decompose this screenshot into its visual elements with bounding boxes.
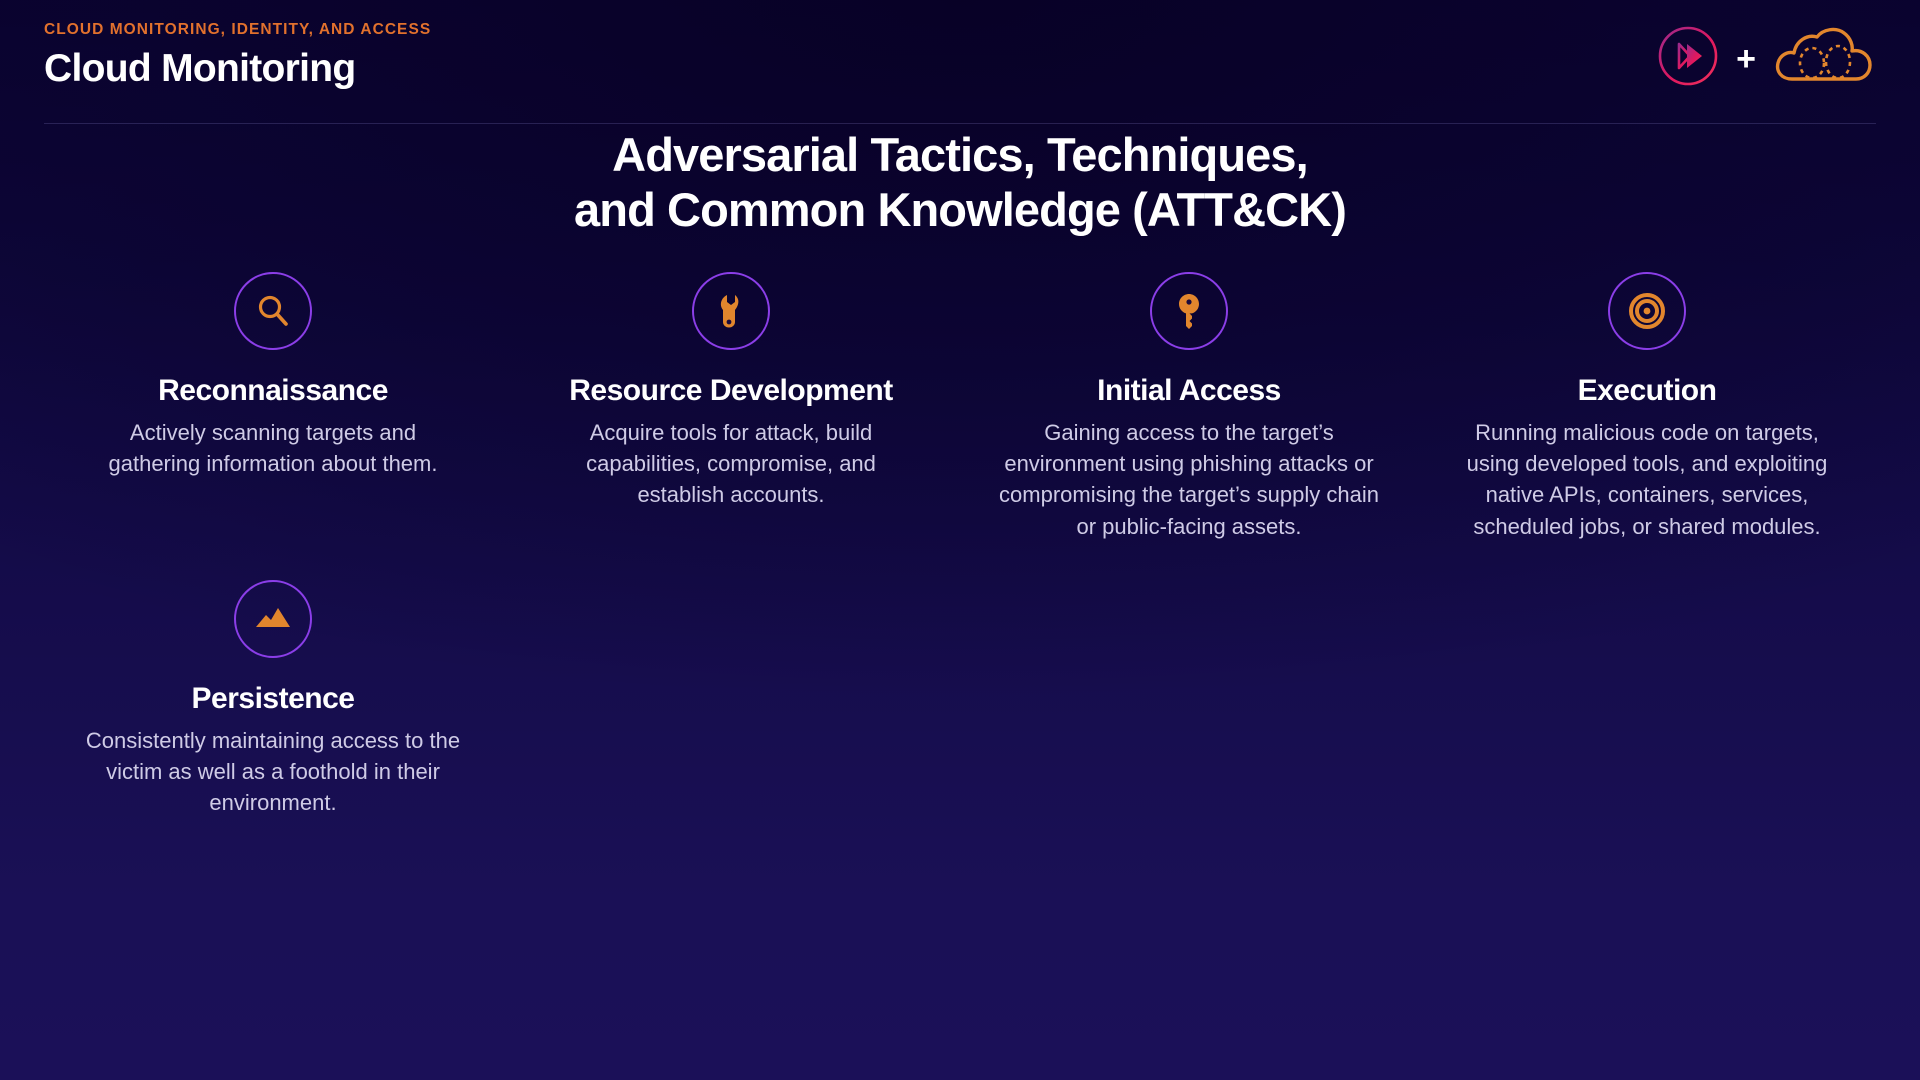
tactics-grid: Reconnaissance Actively scanning targets… (44, 272, 1876, 819)
tactic-title: Reconnaissance (158, 374, 388, 407)
page-header: CLOUD MONITORING, IDENTITY, AND ACCESS C… (0, 0, 1920, 124)
tactic-card-initial-access: Initial Access Gaining access to the tar… (960, 272, 1418, 542)
magnifier-icon (234, 272, 312, 350)
tactic-card-execution: Execution Running malicious code on targ… (1418, 272, 1876, 542)
tactic-description: Running malicious code on targets, using… (1457, 417, 1837, 542)
page-title: Cloud Monitoring (44, 49, 1876, 90)
tactic-title: Execution (1578, 374, 1717, 407)
tactic-title: Resource Development (569, 374, 892, 407)
deck-title-line-1: Adversarial Tactics, Techniques, (612, 128, 1308, 181)
header-eyebrow: CLOUD MONITORING, IDENTITY, AND ACCESS (44, 22, 1876, 38)
key-icon (1150, 272, 1228, 350)
tactic-description: Acquire tools for attack, build capabili… (541, 417, 921, 511)
target-icon (1608, 272, 1686, 350)
mountains-icon (234, 580, 312, 658)
cloud-outline-logo (1772, 24, 1876, 93)
wrench-icon (692, 272, 770, 350)
tactic-card-resource-development: Resource Development Acquire tools for a… (502, 272, 960, 542)
logo-group: + (1656, 22, 1876, 94)
deck-title: Adversarial Tactics, Techniques, and Com… (210, 128, 1710, 238)
deck-title-line-2: and Common Knowledge (ATT&CK) (574, 183, 1346, 236)
tactic-title: Persistence (192, 682, 355, 715)
tactic-description: Actively scanning targets and gathering … (83, 417, 463, 479)
tactic-description: Consistently maintaining access to the v… (83, 725, 463, 819)
tactic-card-reconnaissance: Reconnaissance Actively scanning targets… (44, 272, 502, 542)
tactic-description: Gaining access to the target’s environme… (999, 417, 1379, 542)
tactic-title: Initial Access (1097, 374, 1281, 407)
tactic-card-persistence: Persistence Consistently maintaining acc… (44, 580, 502, 819)
plus-separator: + (1736, 42, 1756, 76)
play-circle-logo (1656, 24, 1720, 93)
